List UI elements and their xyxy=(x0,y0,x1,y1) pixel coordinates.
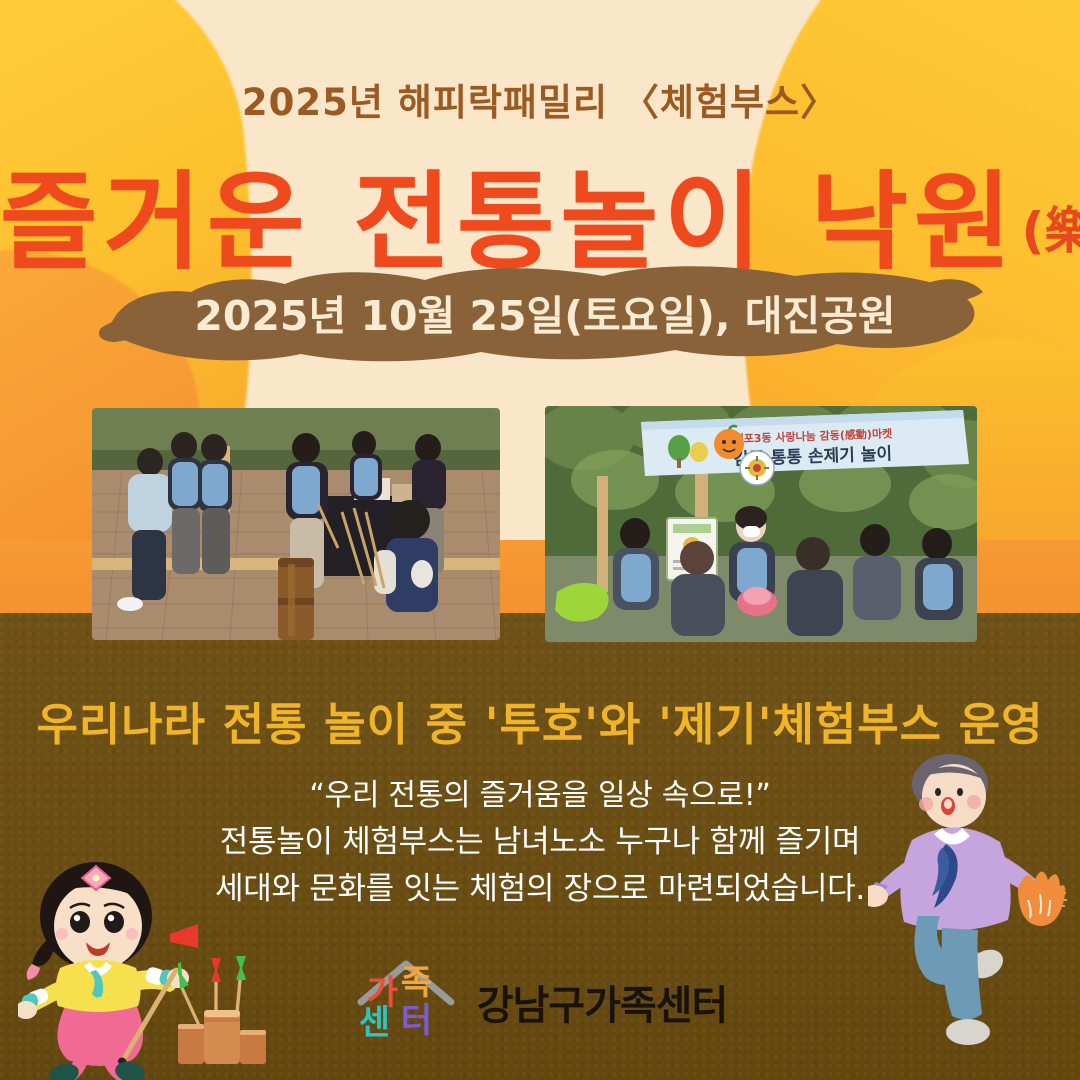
girl-face xyxy=(54,882,142,970)
photo-left-illustration xyxy=(92,408,500,640)
photo-jegi-booth: 개포3동 사랑나눔 감동(感動)마켓 감동 통통 손제기 놀이 xyxy=(545,406,977,642)
tuho-pot xyxy=(278,558,314,640)
event-poster: 2025년 해피락패밀리 〈체험부스〉 즐거운 전통놀이 낙원(樂園) 2025… xyxy=(0,0,1080,1080)
footer-logo-row: 가 족 센 터 강남구가족센터 xyxy=(0,958,1080,1046)
date-banner: 2025년 10월 25일(토요일), 대진공원 xyxy=(95,258,985,366)
boy-hanbok-top xyxy=(900,827,1010,930)
logo-char-sen: 센 xyxy=(359,1006,390,1040)
section-headline: 우리나라 전통 놀이 중 '투호'와 '제기'체험부스 운영 xyxy=(0,688,1080,753)
poster-subtitle: 2025년 해피락패밀리 〈체험부스〉 xyxy=(0,72,1080,126)
title-hanja-text: (樂園) xyxy=(1022,202,1080,260)
photo-right-illustration: 개포3동 사랑나눔 감동(感動)마켓 감동 통통 손제기 놀이 xyxy=(545,406,977,642)
jegi-shuttlecock xyxy=(1018,871,1065,926)
family-center-logo-mark: 가 족 센 터 xyxy=(353,958,459,1046)
date-location-text: 2025년 10월 25일(토요일), 대진공원 xyxy=(95,258,985,366)
logo-char-teo: 터 xyxy=(401,1004,432,1038)
logo-char-jok: 족 xyxy=(401,966,432,1000)
photo-tuho-booth xyxy=(92,408,500,640)
organization-name: 강남구가족센터 xyxy=(477,973,728,1031)
